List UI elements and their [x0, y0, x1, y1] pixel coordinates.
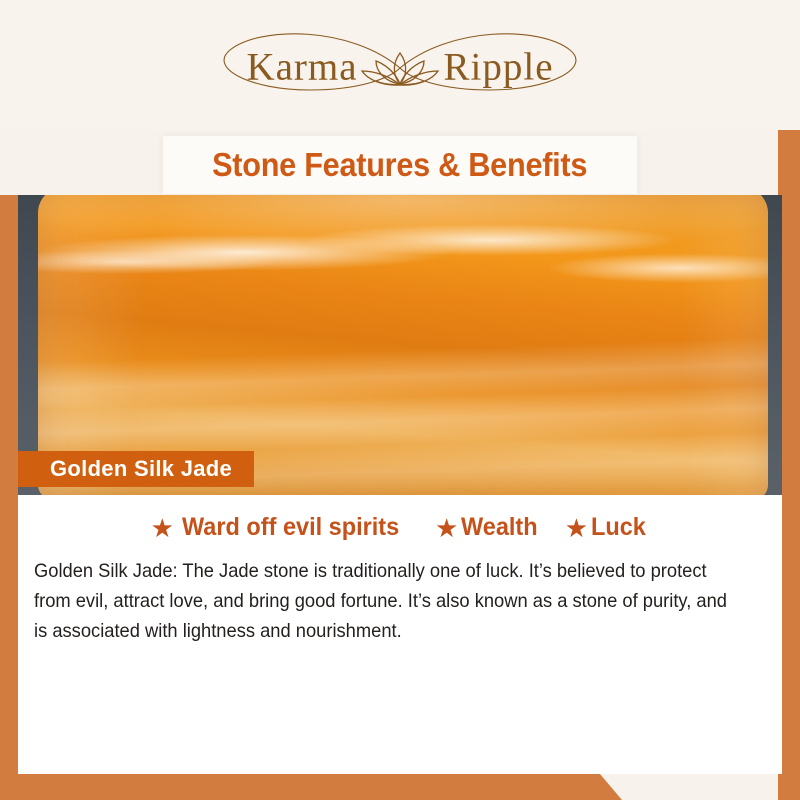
frame-bottom-bar	[0, 774, 800, 800]
star-icon: ★	[435, 515, 458, 541]
stone-sheen-overlay	[38, 195, 768, 495]
infographic-page: KarmaRipple Stone Features & Benefits Go…	[0, 0, 800, 800]
lotus-icon	[190, 28, 610, 108]
frame-left-bar	[0, 195, 18, 800]
star-icon: ★	[151, 515, 174, 541]
header: KarmaRipple	[0, 0, 800, 130]
jade-stone-image	[38, 195, 768, 495]
content-panel: ★ Ward off evil spirits ★ Wealth ★ Luck …	[18, 495, 782, 774]
benefit-label: Wealth	[461, 513, 538, 542]
stone-description: Golden Silk Jade: The Jade stone is trad…	[34, 557, 737, 647]
brand-logo: KarmaRipple	[190, 28, 610, 108]
title-banner: Stone Features & Benefits	[163, 136, 637, 194]
benefits-row: ★ Ward off evil spirits ★ Wealth ★ Luck	[18, 513, 782, 542]
stone-name-label: Golden Silk Jade	[50, 456, 232, 482]
star-icon: ★	[565, 515, 588, 541]
page-title: Stone Features & Benefits	[212, 146, 587, 184]
benefit-label: Luck	[591, 513, 646, 542]
benefit-item: ★ Wealth	[435, 513, 543, 542]
benefit-item: ★ Ward off evil spirits	[151, 513, 413, 542]
stone-photo: Golden Silk Jade	[18, 195, 782, 495]
benefit-item: ★ Luck	[565, 513, 650, 542]
stone-name-banner: Golden Silk Jade	[18, 451, 254, 487]
benefit-label: Ward off evil spirits	[182, 513, 399, 542]
